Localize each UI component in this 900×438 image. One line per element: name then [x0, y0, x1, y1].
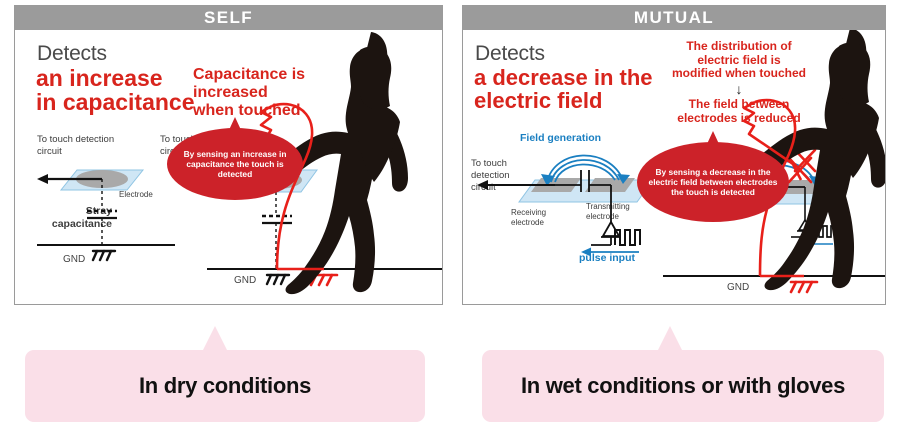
mutual-pulse-input-arrow [581, 248, 639, 257]
self-callout-bubble: By sensing an increase in capacitance th… [167, 128, 303, 200]
footer-label-wet-conditions: In wet conditions or with gloves [521, 373, 845, 399]
panel-self: SELF Detects an increase in capacitance … [14, 5, 443, 305]
mutual-callout-bubble: By sensing a decrease in the electric fi… [637, 142, 789, 222]
footer-box-dry-conditions: In dry conditions [25, 350, 425, 422]
panel-mutual-title: MUTUAL [634, 8, 714, 28]
capacitive-touch-comparison-diagram: SELF Detects an increase in capacitance … [0, 0, 900, 438]
panel-self-body: Detects an increase in capacitance Capac… [15, 30, 442, 305]
panel-mutual-header: MUTUAL [463, 6, 885, 30]
panel-mutual-body: Detects a decrease in the electric field… [463, 30, 885, 305]
self-callout-text: By sensing an increase in capacitance th… [175, 149, 295, 180]
mutual-body-ground [791, 282, 817, 292]
footer-label-dry-conditions: In dry conditions [139, 373, 311, 399]
footer-box-wet-conditions: In wet conditions or with gloves [482, 350, 884, 422]
panel-mutual: MUTUAL Detects a decrease in the electri… [462, 5, 886, 305]
mutual-sensor-pad-untouched [519, 178, 653, 202]
panel-self-header: SELF [15, 6, 442, 30]
mutual-callout-text: By sensing a decrease in the electric fi… [645, 167, 781, 198]
panel-self-title: SELF [204, 8, 253, 28]
